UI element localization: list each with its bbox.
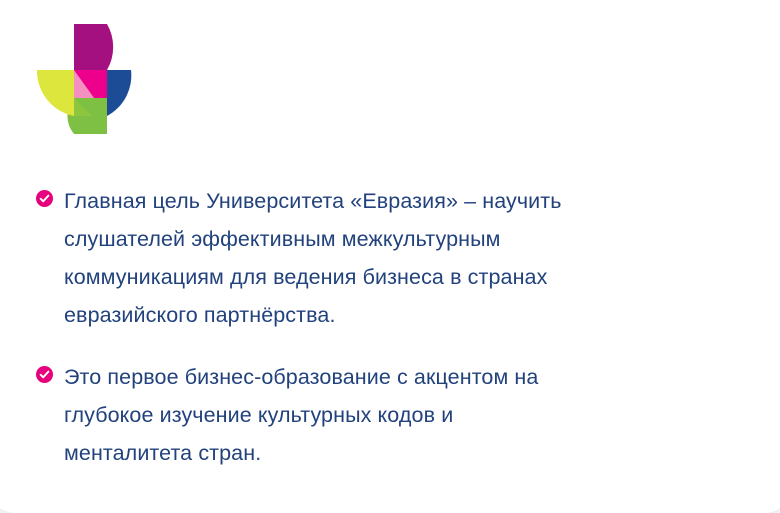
logo-petal-left <box>37 70 74 116</box>
slide-card: Главная цель Университета «Евразия» – на… <box>0 0 780 513</box>
check-circle-icon <box>36 190 53 207</box>
list-item: Главная цель Университета «Евразия» – на… <box>36 182 726 334</box>
bullet-list: Главная цель Университета «Евразия» – на… <box>36 182 726 472</box>
logo-petal-right <box>107 70 131 116</box>
eurasia-university-logo <box>37 24 137 134</box>
logo-svg <box>37 24 137 134</box>
list-item-text: Это первое бизнес-образование с акцентом… <box>64 358 726 472</box>
check-circle-icon <box>36 366 53 383</box>
logo-petal-top <box>74 24 113 70</box>
list-item: Это первое бизнес-образование с акцентом… <box>36 358 726 472</box>
list-item-text: Главная цель Университета «Евразия» – на… <box>64 182 726 334</box>
